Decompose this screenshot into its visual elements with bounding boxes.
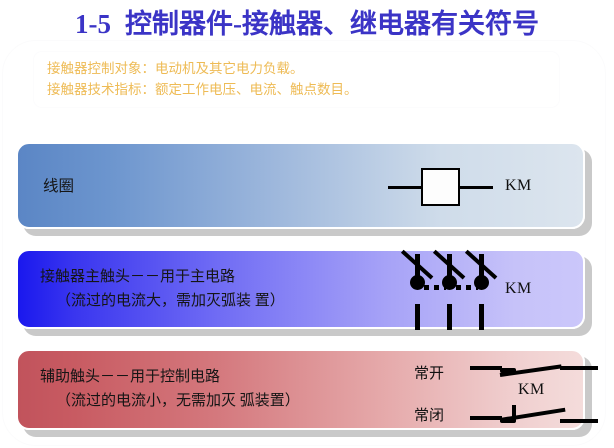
main-contact-pole-2 <box>438 254 462 330</box>
panel-main-contacts[interactable]: 接触器主触头－－用于主电路 （流过的电流大，需加灭弧装 置） KM <box>16 249 585 329</box>
panel-aux-contacts[interactable]: 辅助触头－－用于控制电路 （流过的电流小，无需加灭 弧装置） 常开 常闭 KM <box>16 349 585 430</box>
pole-pivot-dot <box>442 275 457 290</box>
coil-body-rect <box>421 168 460 206</box>
main-contacts-line-1: 接触器主触头－－用于主电路 <box>40 269 235 285</box>
main-contacts-description: 接触器主触头－－用于主电路 （流过的电流大，需加灭弧装 置） <box>40 265 285 313</box>
subtitle-line-2: 接触器技术指标：额定工作电压、电流、触点数目。 <box>47 79 559 100</box>
aux-row-normally-closed: 常闭 <box>414 403 599 427</box>
aux-contacts-line-2: （流过的电流小，无需加灭 弧装置） <box>40 389 300 413</box>
pole-stem-bottom <box>447 304 452 330</box>
aux-contacts-line-1: 辅助触头－－用于控制电路 <box>40 369 220 385</box>
page-title: 1-5控制器件-接触器、继电器有关符号 <box>0 2 614 41</box>
aux-contacts-device-label: KM <box>518 381 545 399</box>
subtitle-box: 接触器控制对象：电动机及其它电力负载。 接触器技术指标：额定工作电压、电流、触点… <box>33 51 560 108</box>
subtitle-line-1: 接触器控制对象：电动机及其它电力负载。 <box>47 58 559 79</box>
main-contacts-line-2: （流过的电流大，需加灭弧装 置） <box>40 289 285 313</box>
nc-moving-arm <box>500 408 566 422</box>
coil-device-label: KM <box>505 177 532 195</box>
nc-lead-right <box>560 419 598 423</box>
coil-label: 线圈 <box>43 175 74 199</box>
no-moving-arm <box>500 364 562 377</box>
normally-closed-label: 常闭 <box>414 404 444 425</box>
contactor-coil-symbol <box>388 168 493 208</box>
main-contact-pole-1 <box>406 254 430 330</box>
normally-closed-contact-symbol <box>470 403 598 427</box>
main-contact-pole-3 <box>470 254 494 330</box>
nc-lead-left <box>470 416 502 420</box>
main-contacts-device-label: KM <box>505 280 532 298</box>
no-lead-left <box>470 366 502 370</box>
pole-stem-bottom <box>415 304 420 330</box>
three-pole-main-contact-symbol <box>406 254 494 330</box>
pole-stem-bottom <box>479 304 484 330</box>
panel-coil[interactable]: 线圈 KM <box>16 142 585 229</box>
page-title-text: 控制器件-接触器、继电器有关符号 <box>125 9 539 39</box>
normally-open-label: 常开 <box>414 362 444 383</box>
coil-lead-left <box>388 186 421 189</box>
aux-contacts-description: 辅助触头－－用于控制电路 （流过的电流小，无需加灭 弧装置） <box>40 365 300 413</box>
page-title-number: 1-5 <box>75 9 111 39</box>
pole-pivot-dot <box>410 275 425 290</box>
coil-lead-right <box>460 186 493 189</box>
pole-pivot-dot <box>474 275 489 290</box>
aux-row-normally-open: 常开 <box>414 361 599 385</box>
no-lead-right <box>560 366 598 370</box>
